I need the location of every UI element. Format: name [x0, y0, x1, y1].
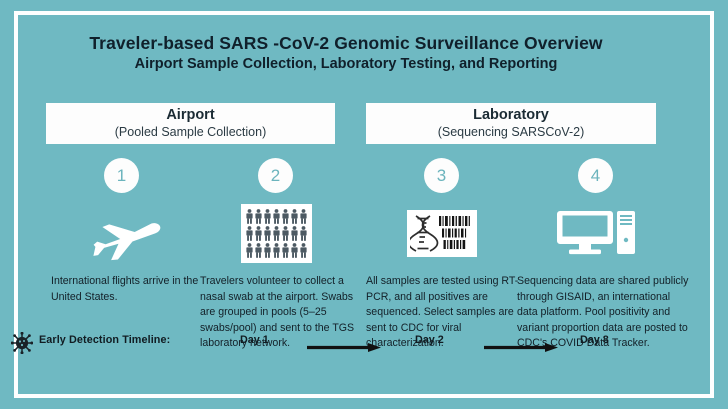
person-figure: [281, 242, 289, 258]
person-figure: [281, 208, 289, 224]
person-figure: [254, 225, 262, 241]
step-number-badge-3: 3: [424, 158, 459, 193]
person-figure: [245, 225, 253, 241]
barcode-rows: [439, 216, 470, 249]
section-header-laboratory: Laboratory (Sequencing SARSCoV-2): [366, 103, 656, 144]
section-subtitle-laboratory: (Sequencing SARSCoV-2): [438, 124, 585, 140]
page-subtitle: Airport Sample Collection, Laboratory Te…: [0, 55, 692, 74]
person-figure: [263, 242, 271, 258]
timeline-day-1: Day 1: [240, 334, 269, 346]
section-header-airport: Airport (Pooled Sample Collection): [46, 103, 335, 144]
timeline-arrow-1: [307, 339, 381, 348]
person-figure: [299, 242, 307, 258]
people-grid-icon: [196, 202, 356, 264]
section-subtitle-airport: (Pooled Sample Collection): [115, 124, 266, 140]
computer-icon: [516, 202, 676, 264]
step-number-badge-2: 2: [258, 158, 293, 193]
person-figure: [290, 242, 298, 258]
dna-barcode-icon: [362, 202, 522, 264]
section-title-airport: Airport: [166, 107, 214, 123]
step-number-badge-4: 4: [578, 158, 613, 193]
person-figure: [299, 225, 307, 241]
person-figure: [290, 208, 298, 224]
person-figure: [272, 242, 280, 258]
person-figure: [272, 225, 280, 241]
timeline-label: Early Detection Timeline:: [39, 334, 170, 346]
person-figure: [254, 208, 262, 224]
person-figure: [290, 225, 298, 241]
poster-title-block: Traveler-based SARS -CoV-2 Genomic Surve…: [0, 33, 692, 74]
page-title: Traveler-based SARS -CoV-2 Genomic Surve…: [0, 33, 692, 54]
timeline-day-8: Day 8: [580, 334, 609, 346]
airplane-icon: [42, 202, 202, 264]
person-figure: [272, 208, 280, 224]
person-figure: [263, 225, 271, 241]
timeline-arrow-2: [484, 339, 558, 348]
step-number-badge-1: 1: [104, 158, 139, 193]
step-description-1: International flights arrive in the Unit…: [51, 274, 207, 305]
early-detection-timeline: Early Detection Timeline: Day 1 Day 2 Da…: [0, 330, 692, 360]
person-figure: [254, 242, 262, 258]
section-title-laboratory: Laboratory: [473, 107, 549, 123]
person-figure: [245, 242, 253, 258]
person-figure: [245, 208, 253, 224]
person-figure: [299, 208, 307, 224]
coronavirus-icon: [11, 332, 33, 354]
infographic-poster: Traveler-based SARS -CoV-2 Genomic Surve…: [0, 0, 728, 409]
people-grid: [245, 208, 307, 258]
person-figure: [281, 225, 289, 241]
person-figure: [263, 208, 271, 224]
timeline-day-2: Day 2: [415, 334, 444, 346]
